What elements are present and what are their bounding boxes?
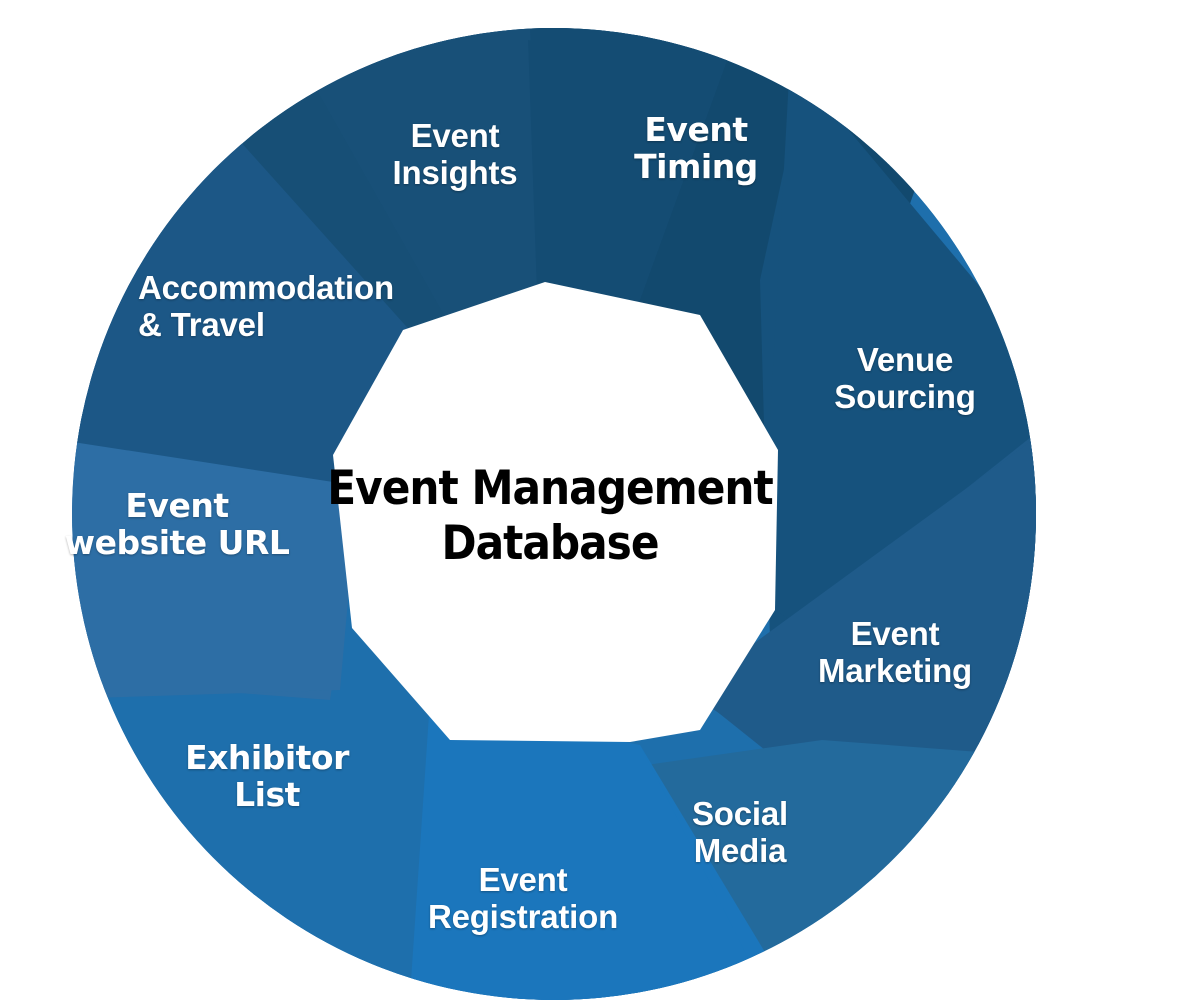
center-heptagon xyxy=(333,282,778,742)
iris-wheel-graphic xyxy=(0,0,1200,1000)
diagram-canvas: Event Insights Event Timing Venue Sourci… xyxy=(0,0,1200,1000)
